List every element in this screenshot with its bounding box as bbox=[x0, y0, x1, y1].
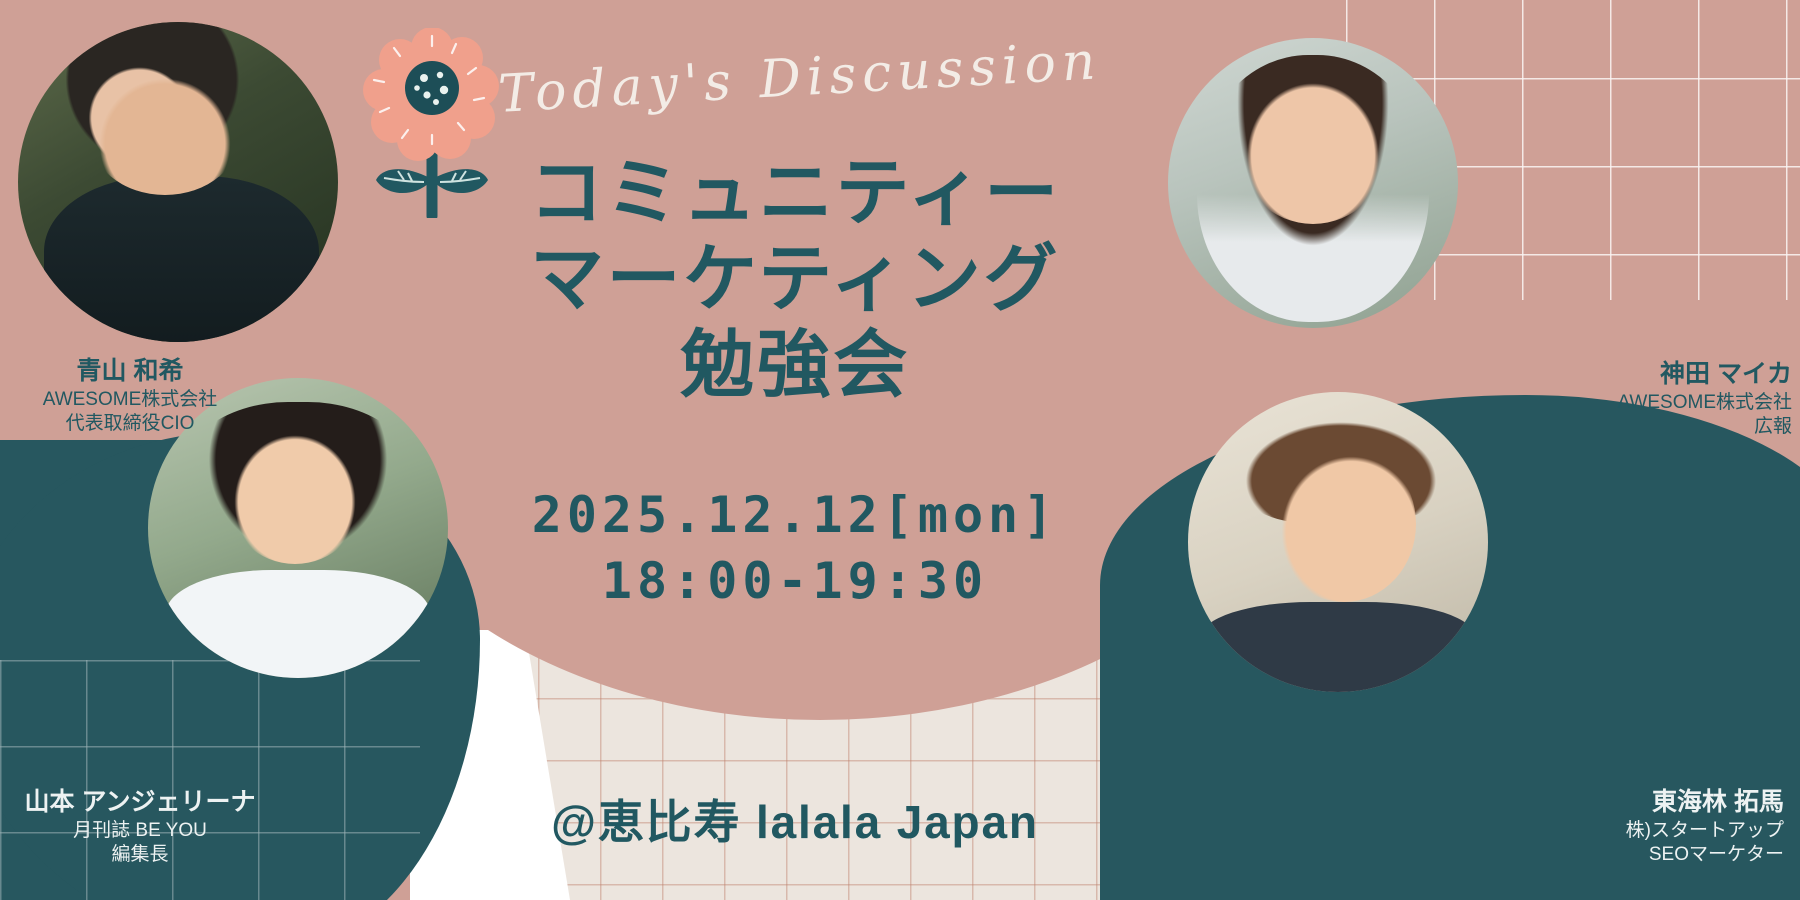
title-line-1: コミュニティー bbox=[455, 150, 1135, 236]
speaker-org: AWESOME株式会社 bbox=[0, 388, 260, 413]
speaker-card-bottom-left: 山本 アンジェリーナ 月刊誌 BE YOU 編集長 bbox=[0, 786, 280, 868]
speaker-org: 株)スタートアップ bbox=[1520, 819, 1784, 844]
event-venue: @恵比寿 lalala Japan bbox=[455, 786, 1135, 852]
speaker-role: SEOマーケター bbox=[1520, 843, 1784, 868]
avatar-aoyama bbox=[18, 22, 338, 342]
avatar-shoji bbox=[1188, 392, 1488, 692]
speaker-name: 神田 マイカ bbox=[1540, 358, 1792, 391]
speaker-name: 山本 アンジェリーナ bbox=[0, 786, 280, 819]
poster-canvas: Today's Discussion コミュニティー マーケティング 勉強会 2… bbox=[0, 0, 1800, 900]
page-title: コミュニティー マーケティング 勉強会 bbox=[455, 150, 1135, 407]
speaker-role: 編集長 bbox=[0, 843, 280, 868]
speaker-org: AWESOME株式会社 bbox=[1540, 391, 1792, 416]
speaker-card-top-right: 神田 マイカ AWESOME株式会社 広報 bbox=[1540, 358, 1798, 440]
title-line-2: マーケティング bbox=[455, 236, 1135, 322]
event-date: 2025.12.12[mon] bbox=[455, 486, 1135, 544]
event-time: 18:00-19:30 bbox=[455, 552, 1135, 610]
speaker-name: 青山 和希 bbox=[0, 355, 260, 388]
speaker-role: 代表取締役CIO bbox=[0, 412, 260, 437]
speaker-role: 広報 bbox=[1540, 415, 1792, 440]
speaker-card-top-left: 青山 和希 AWESOME株式会社 代表取締役CIO bbox=[0, 355, 260, 437]
avatar-kanda bbox=[1168, 38, 1458, 328]
speaker-org: 月刊誌 BE YOU bbox=[0, 819, 280, 844]
title-line-3: 勉強会 bbox=[455, 322, 1135, 408]
speaker-card-bottom-right: 東海林 拓馬 株)スタートアップ SEOマーケター bbox=[1520, 786, 1792, 868]
speaker-name: 東海林 拓馬 bbox=[1520, 786, 1784, 819]
